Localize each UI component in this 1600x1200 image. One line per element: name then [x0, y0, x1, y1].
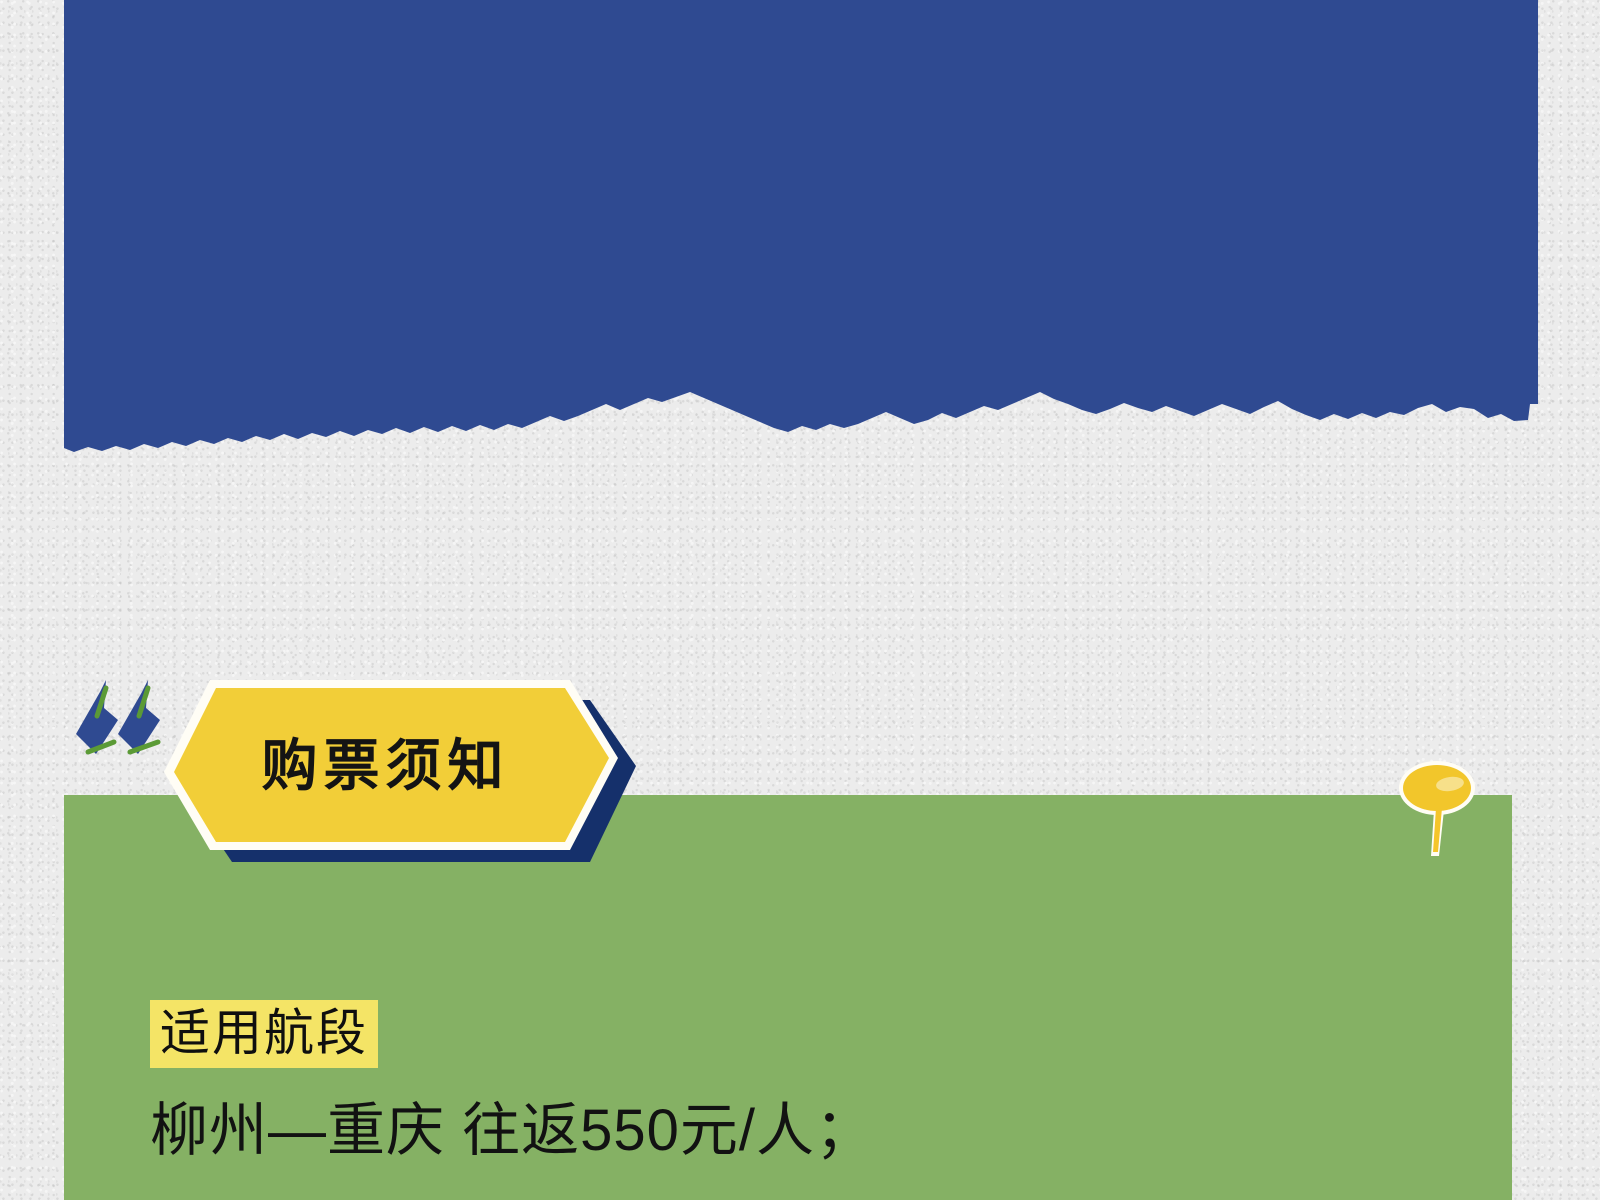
badge-face	[174, 688, 609, 842]
panel-body: 适用航段 柳州—重庆 往返550元/人；	[150, 1000, 1450, 1165]
quote-marks-icon	[70, 672, 166, 758]
blue-torn-banner	[64, 0, 1538, 452]
torn-banner-shape	[64, 0, 1538, 452]
pushpin-icon	[1382, 752, 1488, 860]
field-label-applicable-route: 适用航段	[150, 1000, 378, 1068]
section-badge: 购票须知	[158, 672, 638, 868]
route-line: 柳州—重庆 往返550元/人；	[150, 1098, 1450, 1165]
